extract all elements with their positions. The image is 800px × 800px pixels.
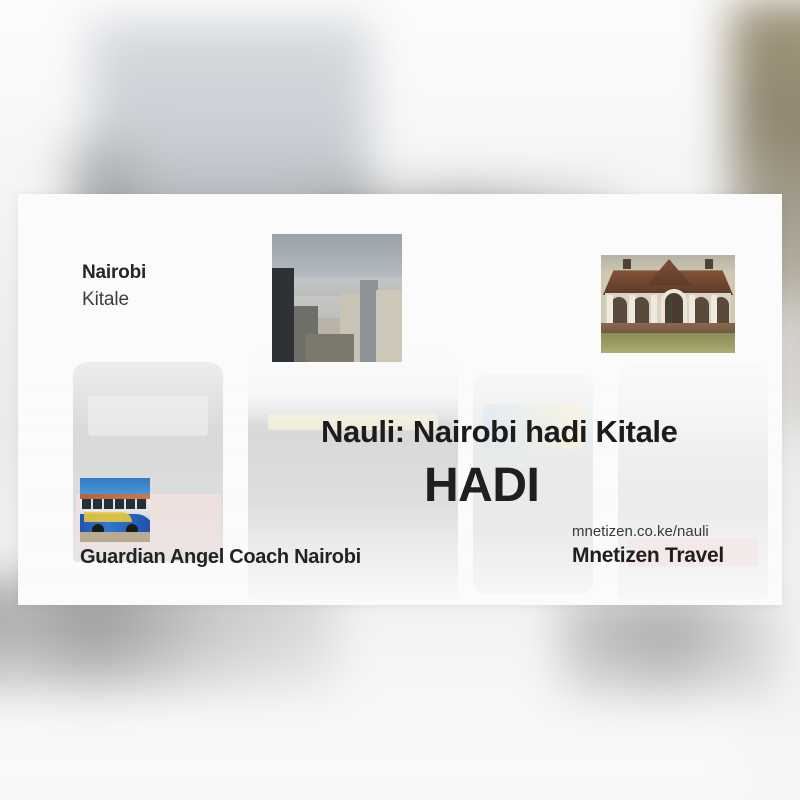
building-arch [693, 297, 709, 325]
screenshot-stage: Nairobi Kitale HADI [0, 0, 800, 800]
building-arch [633, 297, 649, 325]
building-chimney [705, 259, 713, 269]
skyline-building [306, 334, 354, 362]
building-arch [611, 297, 627, 325]
operator-logo-image [80, 478, 150, 542]
skyline-building [376, 290, 402, 362]
brand-name-label: Mnetizen Travel [572, 544, 724, 568]
building-lawn [601, 333, 735, 353]
bus-livery-yellow [84, 512, 132, 522]
building-entrance-arch [661, 289, 687, 327]
route-connector-text: HADI [424, 462, 539, 510]
origin-city-image [272, 234, 402, 362]
fare-info-card: Nairobi Kitale HADI [18, 194, 782, 605]
route-labels: Nairobi Kitale [82, 262, 146, 314]
brand-url-label: mnetizen.co.ke/nauli [572, 523, 709, 540]
destination-city-image [601, 255, 735, 353]
bus-windows [82, 499, 148, 509]
route-destination-label: Kitale [82, 285, 146, 314]
building-chimney [623, 259, 631, 269]
skyline-tower [272, 268, 294, 362]
bus-photo-ground [80, 532, 150, 542]
route-origin-label: Nairobi [82, 262, 146, 285]
page-title: Nauli: Nairobi hadi Kitale [321, 414, 677, 450]
background-haze-overlay [0, 630, 740, 800]
operator-name-label: Guardian Angel Coach Nairobi [80, 546, 361, 569]
